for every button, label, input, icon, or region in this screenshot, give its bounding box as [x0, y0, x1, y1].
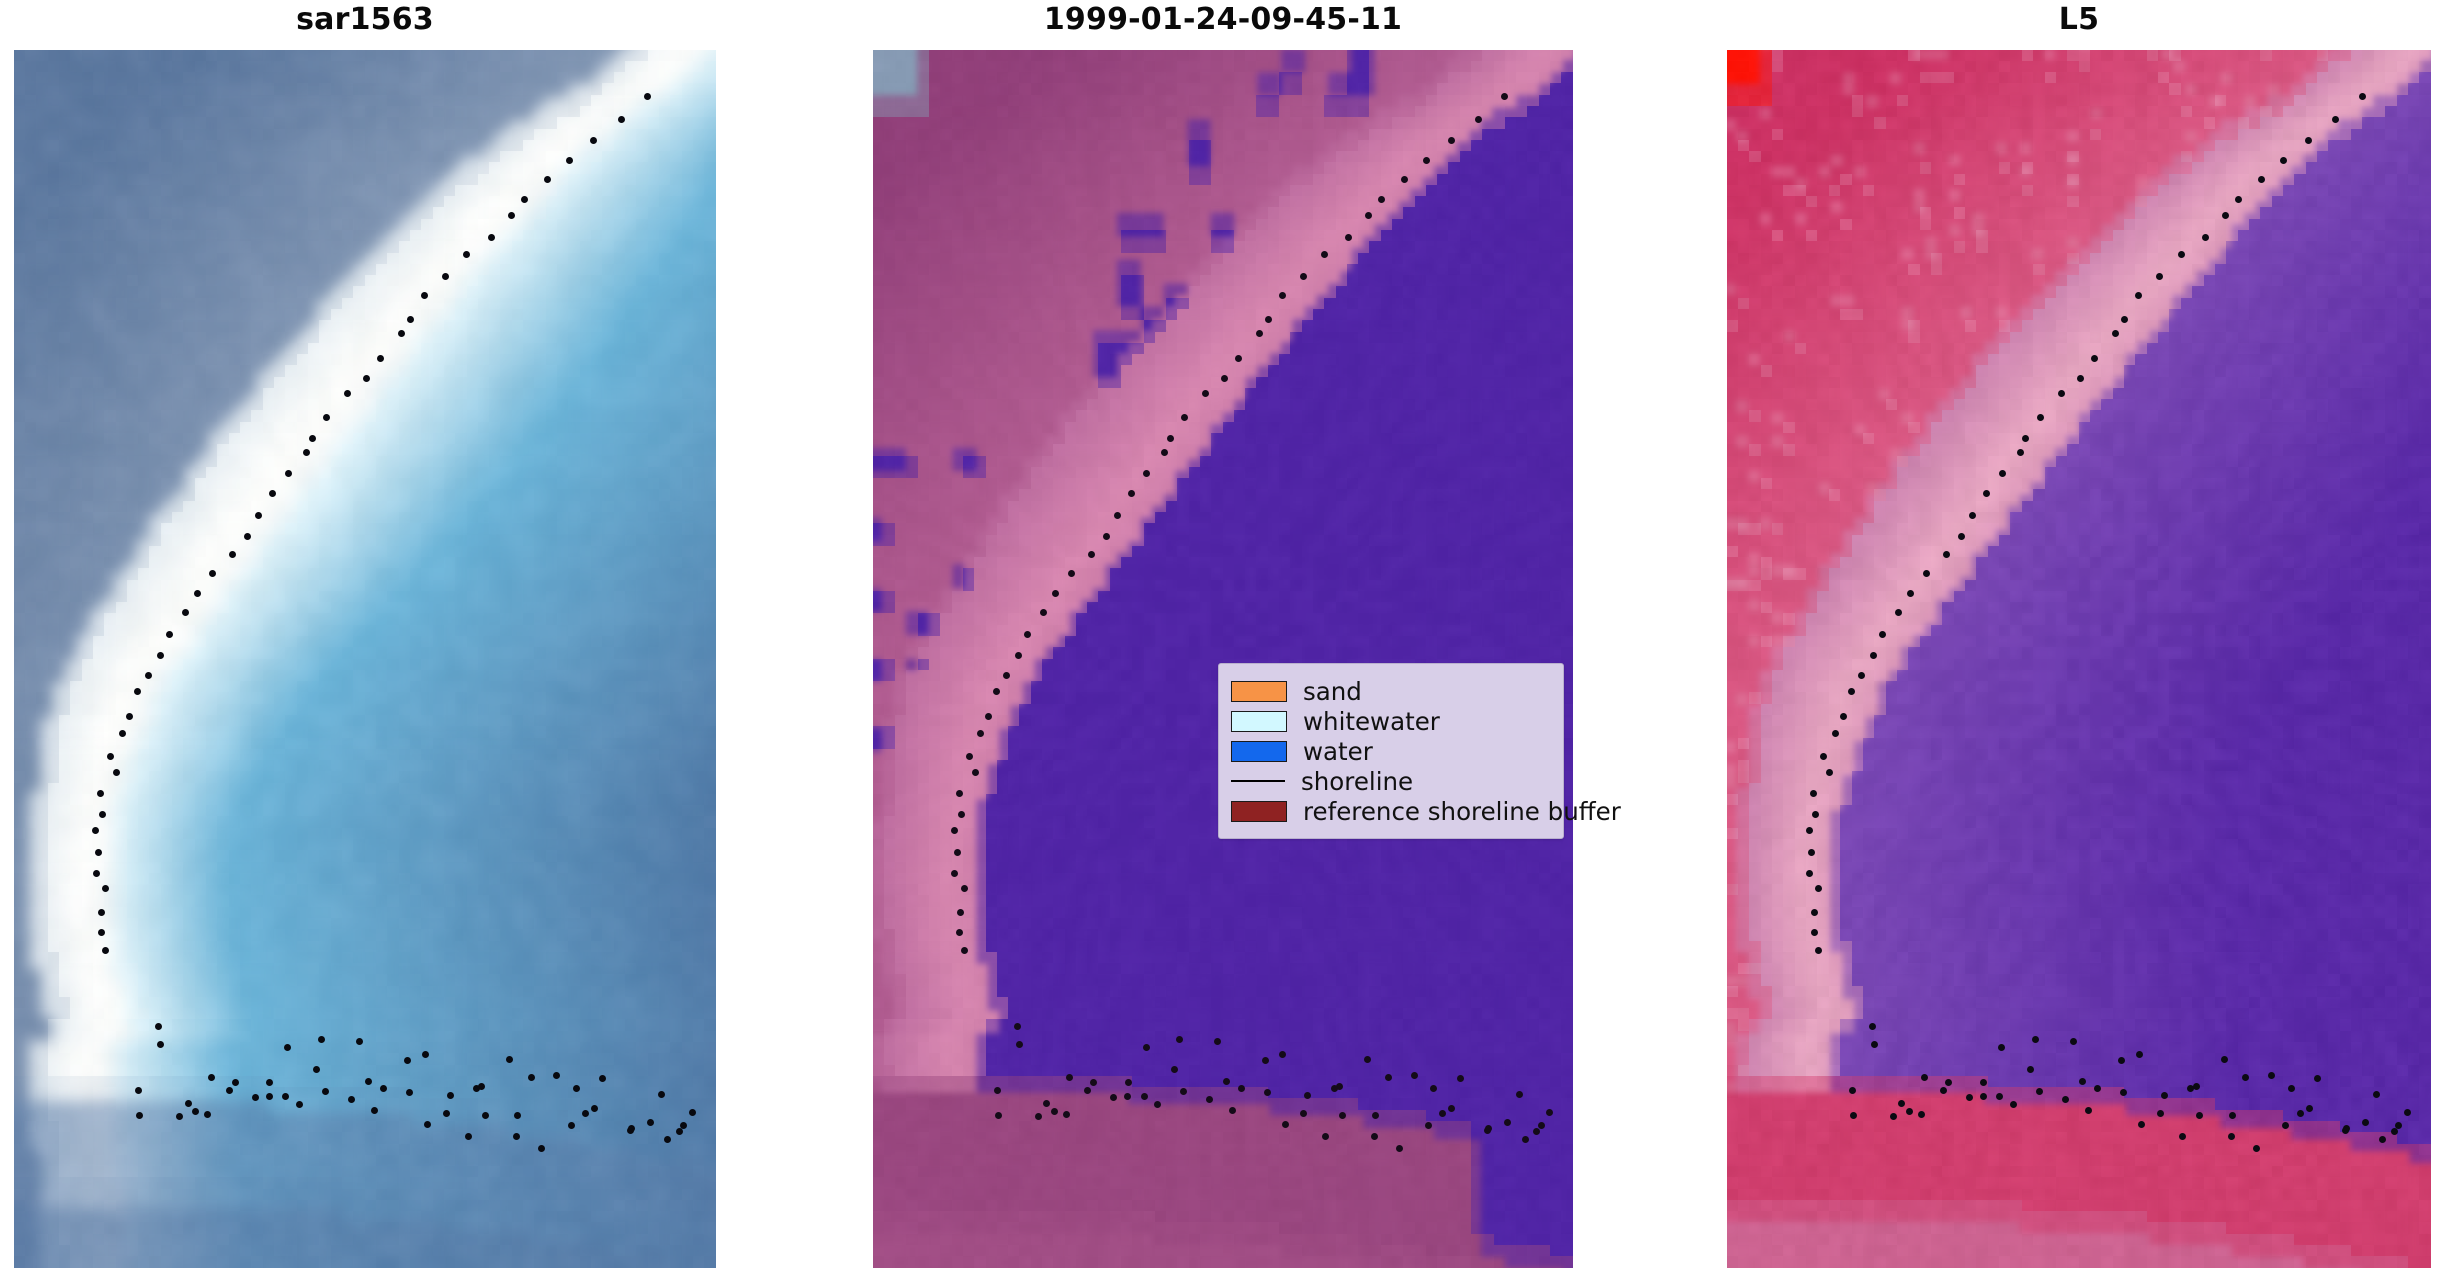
- shoreline-point: [951, 827, 958, 834]
- shoreline-point: [2268, 1072, 2275, 1079]
- shoreline-point: [1501, 93, 1508, 100]
- legend-box: sand whitewater water shoreline referenc…: [1218, 663, 1564, 839]
- shoreline-point: [442, 273, 449, 280]
- reference-buffer-swatch-icon: [1231, 801, 1287, 822]
- shoreline-point: [1206, 1096, 1213, 1103]
- shoreline-point: [972, 769, 979, 776]
- shoreline-point: [2091, 355, 2098, 362]
- shoreline-point: [966, 753, 973, 760]
- shoreline-point: [185, 1100, 192, 1107]
- shoreline-point: [553, 1072, 560, 1079]
- shoreline-point: [2228, 1133, 2235, 1140]
- shoreline-point: [1141, 1093, 1148, 1100]
- shoreline-point: [2306, 1105, 2313, 1112]
- panel-title-classification: 1999-01-24-09-45-11: [873, 0, 1573, 46]
- shoreline-point: [1063, 1111, 1070, 1118]
- shoreline-point: [1820, 753, 1827, 760]
- shoreline-point: [1999, 470, 2006, 477]
- shoreline-point: [1940, 1087, 1947, 1094]
- shoreline-point: [208, 1074, 215, 1081]
- shoreline-point: [1181, 414, 1188, 421]
- shoreline-point: [2037, 414, 2044, 421]
- shoreline-point: [2157, 1110, 2164, 1117]
- shoreline-point: [1279, 292, 1286, 299]
- shoreline-point: [95, 849, 102, 856]
- shoreline-point: [2391, 1128, 2398, 1135]
- shoreline-point: [204, 1111, 211, 1118]
- shoreline-point: [166, 631, 173, 638]
- shoreline-point: [961, 885, 968, 892]
- shoreline-point: [1943, 551, 1950, 558]
- legend-entry-whitewater: whitewater: [1231, 706, 1549, 736]
- shoreline-point: [282, 1093, 289, 1100]
- legend-label-sand: sand: [1303, 677, 1362, 706]
- shoreline-point: [676, 1128, 683, 1135]
- shoreline-point: [2079, 1078, 2086, 1085]
- shoreline-point: [422, 1051, 429, 1058]
- figure-canvas: sar1563 1999-01-24-09-45-11 L5 sand whit…: [0, 0, 2446, 1283]
- shoreline-point: [1300, 1110, 1307, 1117]
- shoreline-point: [1371, 1133, 1378, 1140]
- shoreline-point: [1850, 1112, 1857, 1119]
- panel-classification: 1999-01-24-09-45-11: [873, 0, 1573, 1268]
- shoreline-point: [1840, 713, 1847, 720]
- shoreline-point: [482, 1112, 489, 1119]
- shoreline-point: [628, 1125, 635, 1132]
- shoreline-point: [1221, 375, 1228, 382]
- shoreline-point: [1372, 1112, 1379, 1119]
- shoreline-point: [2118, 1057, 2125, 1064]
- shoreline-point: [157, 652, 164, 659]
- shoreline-point: [1516, 1091, 1523, 1098]
- shoreline-point: [1906, 1108, 1913, 1115]
- shoreline-point: [2359, 93, 2366, 100]
- shoreline-point: [285, 470, 292, 477]
- shoreline-point: [1898, 1100, 1905, 1107]
- legend-label-water: water: [1303, 737, 1373, 766]
- shoreline-point: [2202, 234, 2209, 241]
- shoreline-point: [1533, 1128, 1540, 1135]
- shoreline-point: [995, 1112, 1002, 1119]
- shoreline-point: [226, 1087, 233, 1094]
- shoreline-point: [232, 1079, 239, 1086]
- shoreline-point: [1068, 570, 1075, 577]
- shoreline-point: [1264, 1089, 1271, 1096]
- shoreline-point: [421, 292, 428, 299]
- shoreline-point: [521, 196, 528, 203]
- shoreline-point: [2178, 251, 2185, 258]
- shoreline-point: [1396, 1145, 1403, 1152]
- shoreline-point: [1983, 490, 1990, 497]
- shoreline-point: [296, 1101, 303, 1108]
- shoreline-point: [371, 1107, 378, 1114]
- shoreline-point: [591, 1105, 598, 1112]
- axes-classification: [873, 50, 1573, 1268]
- shoreline-point: [1223, 1078, 1230, 1085]
- shoreline-point: [309, 435, 316, 442]
- shoreline-point: [508, 212, 515, 219]
- shoreline-point: [1229, 1107, 1236, 1114]
- shoreline-point: [2010, 1101, 2017, 1108]
- shoreline-point: [1014, 1023, 1021, 1030]
- shoreline-point: [1448, 1105, 1455, 1112]
- shoreline-point: [1103, 533, 1110, 540]
- water-swatch-icon: [1231, 741, 1287, 762]
- shoreline-point: [1128, 490, 1135, 497]
- shoreline-point: [1918, 1111, 1925, 1118]
- shoreline-point: [363, 375, 370, 382]
- shoreline-point: [398, 330, 405, 337]
- shoreline-point: [1522, 1136, 1529, 1143]
- legend-label-shoreline: shoreline: [1301, 767, 1413, 796]
- shoreline-point: [1125, 1079, 1132, 1086]
- shoreline-point: [1331, 1085, 1338, 1092]
- shoreline-point: [1811, 909, 1818, 916]
- shoreline-point: [1385, 1074, 1392, 1081]
- shoreline-point: [1090, 1079, 1097, 1086]
- shoreline-point: [93, 870, 100, 877]
- panel-l5: L5: [1727, 0, 2431, 1268]
- shoreline-point: [348, 1096, 355, 1103]
- shoreline-point: [2120, 1089, 2127, 1096]
- panel-title-sar1563: sar1563: [14, 0, 716, 46]
- shoreline-point: [1235, 355, 1242, 362]
- shoreline-point: [377, 355, 384, 362]
- shoreline-point: [2077, 375, 2084, 382]
- shoreline-point: [1167, 435, 1174, 442]
- shoreline-point: [1871, 1041, 1878, 1048]
- panel-title-l5: L5: [1727, 0, 2431, 46]
- legend-label-whitewater: whitewater: [1303, 707, 1440, 736]
- shoreline-point: [98, 909, 105, 916]
- shoreline-point: [1980, 1093, 1987, 1100]
- shoreline-point: [2136, 1051, 2143, 1058]
- shoreline-point: [2305, 137, 2312, 144]
- shoreline-point: [582, 1110, 589, 1117]
- shoreline-point: [1051, 1108, 1058, 1115]
- shoreline-point: [573, 1085, 580, 1092]
- sand-swatch-icon: [1231, 681, 1287, 702]
- shoreline-point: [1504, 1119, 1511, 1126]
- shoreline-point: [2221, 1056, 2228, 1063]
- shoreline-point: [269, 490, 276, 497]
- shoreline-point: [1114, 512, 1121, 519]
- shoreline-point: [182, 609, 189, 616]
- shoreline-point: [2085, 1107, 2092, 1114]
- shoreline-point: [1265, 316, 1272, 323]
- shoreline-point: [2196, 1112, 2203, 1119]
- shoreline-point: [365, 1078, 372, 1085]
- shoreline-point: [1256, 330, 1263, 337]
- shoreline-point: [954, 849, 961, 856]
- shoreline-point: [2253, 1145, 2260, 1152]
- shoreline-point: [1143, 1044, 1150, 1051]
- shoreline-point: [2297, 1110, 2304, 1117]
- legend-entry-shoreline: shoreline: [1231, 766, 1549, 796]
- shoreline-point: [2343, 1125, 2350, 1132]
- shoreline-point: [1806, 870, 1813, 877]
- shoreline-point: [406, 1089, 413, 1096]
- shoreline-point: [2288, 1085, 2295, 1092]
- legend-label-reference-buffer: reference shoreline buffer: [1303, 797, 1621, 826]
- shoreline-point: [1411, 1072, 1418, 1079]
- shoreline-point: [2112, 330, 2119, 337]
- axes-l5: [1727, 50, 2431, 1268]
- shoreline-point: [229, 551, 236, 558]
- shoreline-point: [1262, 1057, 1269, 1064]
- shoreline-point: [98, 929, 105, 936]
- shoreline-point: [107, 753, 114, 760]
- shoreline-point: [2242, 1074, 2249, 1081]
- shoreline-point: [2062, 1096, 2069, 1103]
- shoreline-point: [528, 1074, 535, 1081]
- shoreline-point: [323, 414, 330, 421]
- shoreline-point: [644, 93, 651, 100]
- shoreline-point: [647, 1119, 654, 1126]
- shoreline-point: [1016, 1041, 1023, 1048]
- shoreline-point: [1300, 273, 1307, 280]
- shoreline-point: [2362, 1119, 2369, 1126]
- shoreline-point: [1806, 827, 1813, 834]
- shoreline-point: [1448, 137, 1455, 144]
- shoreline-point: [1457, 1075, 1464, 1082]
- shoreline-point: [2017, 449, 2024, 456]
- shoreline-point: [465, 1133, 472, 1140]
- shoreline-line-icon: [1231, 780, 1285, 782]
- shoreline-point: [2036, 1088, 2043, 1095]
- shoreline-point: [1088, 551, 1095, 558]
- panel-sar1563: sar1563: [14, 0, 716, 1268]
- shoreline-point: [119, 730, 126, 737]
- shoreline-point: [407, 316, 414, 323]
- shoreline-point: [1996, 1093, 2003, 1100]
- shoreline-point: [1998, 1044, 2005, 1051]
- legend-entry-sand: sand: [1231, 676, 1549, 706]
- shoreline-point: [957, 909, 964, 916]
- shoreline-point: [113, 769, 120, 776]
- shoreline-point: [488, 234, 495, 241]
- axes-sar1563: [14, 50, 716, 1268]
- shoreline-point: [2229, 1112, 2236, 1119]
- shoreline-point: [1811, 929, 1818, 936]
- shoreline-point: [443, 1110, 450, 1117]
- shoreline-point: [1869, 1023, 1876, 1030]
- shoreline-point: [404, 1057, 411, 1064]
- legend-entry-reference-buffer: reference shoreline buffer: [1231, 796, 1549, 826]
- legend-entry-water: water: [1231, 736, 1549, 766]
- whitewater-swatch-icon: [1231, 711, 1287, 732]
